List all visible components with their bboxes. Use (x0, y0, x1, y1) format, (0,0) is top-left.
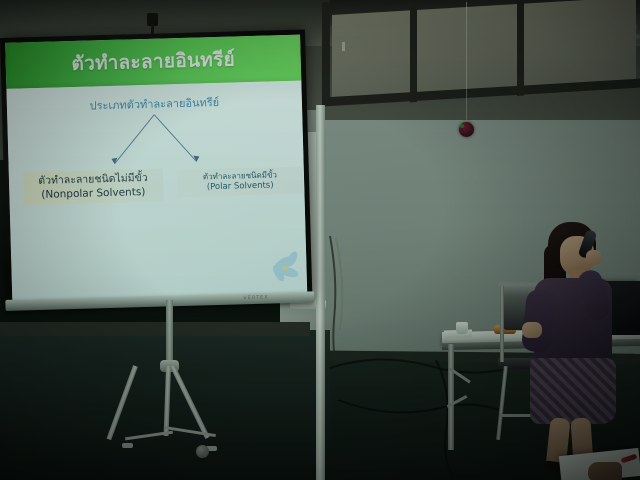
slide-title: ตัวทำละลายอินทรีย์ (71, 44, 235, 79)
projection-screen-surface: ตัวทำละลายอินทรีย์ ประเภทตัวทำละลายอินทร… (5, 35, 307, 301)
photo-scene: ตัวทำละลายอินทรีย์ ประเภทตัวทำละลายอินทร… (0, 0, 640, 480)
ceiling-camera-stem (151, 24, 154, 34)
slide-box-polar: ตัวทำละลายชนิดมีขั้ว (Polar Solvents) (177, 167, 304, 198)
window-mullion (410, 6, 417, 102)
slide-box-nonpolar: ตัวทำละลายชนิดไม่มีขั้ว (Nonpolar Solven… (23, 169, 164, 206)
window-mullion (517, 0, 524, 96)
screen-brand-label: VERTEX (243, 295, 269, 302)
tripod-foot (122, 443, 133, 448)
slide-header-banner: ตัวทำละลายอินทรีย์ (5, 35, 301, 89)
tripod-caster (196, 445, 209, 458)
chair-leg (500, 284, 504, 362)
presenter-right-hand (586, 250, 601, 265)
window-latch-icon (342, 42, 345, 51)
projection-screen-assembly: ตัวทำละลายอินทรีย์ ประเภทตัวทำละลายอินทร… (0, 29, 320, 313)
slide-body: ประเภทตัวทำละลายอินทรีย์ ตัวทำละลายชนิดไ… (6, 81, 307, 301)
ornament-string (466, 2, 467, 124)
flower-decoration-icon (254, 245, 301, 286)
window-pane (524, 0, 636, 90)
foreground-hand (588, 462, 622, 480)
presenter (520, 222, 630, 472)
cup-on-table (456, 322, 468, 334)
wall-base-left (0, 322, 310, 336)
presenter-skirt (530, 358, 616, 424)
ornament-green-highlight (460, 124, 464, 128)
window-pane (332, 10, 410, 101)
presenter-left-hand (522, 322, 542, 338)
window-pane (417, 4, 517, 96)
box-english-label: (Nonpolar Solvents) (31, 185, 155, 202)
branch-arrows (7, 107, 304, 175)
window-frame-left (322, 2, 330, 98)
table-leg (448, 344, 454, 450)
box-english-label: (Polar Solvents) (185, 180, 295, 194)
